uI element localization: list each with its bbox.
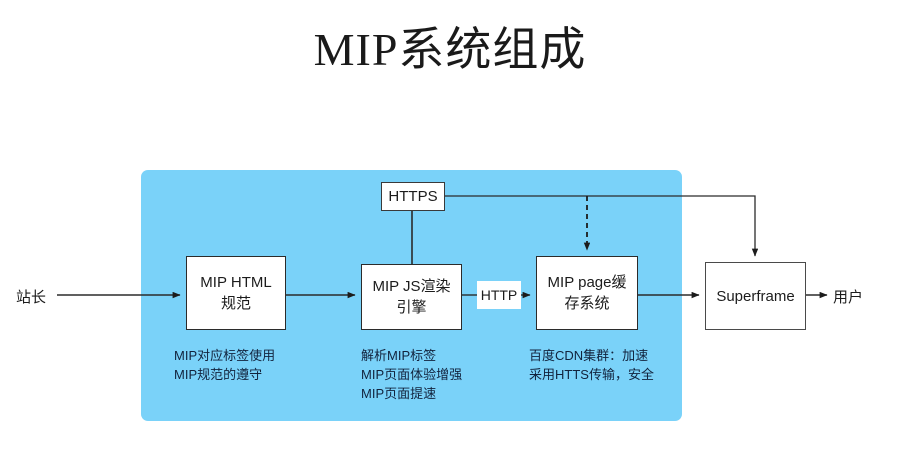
slide-canvas: MIP系统组成 站长 用户 HTTPS HT <box>0 0 900 462</box>
node-mip-page-cache-system[interactable]: MIP page缓存系统 <box>536 256 638 330</box>
caption-mip-page-cache-system: 百度CDN集群：加速 采用HTTS传输，安全 <box>529 346 654 384</box>
node-superframe[interactable]: Superframe <box>705 262 806 330</box>
protocol-label-http: HTTP <box>477 281 521 309</box>
node-mip-js-render-engine[interactable]: MIP JS渲染引擎 <box>361 264 462 330</box>
edge-https-to-superframe <box>445 196 755 256</box>
caption-mip-js-render-engine: 解析MIP标签 MIP页面体验增强 MIP页面提速 <box>361 346 462 403</box>
node-mip-html-spec[interactable]: MIP HTML 规范 <box>186 256 286 330</box>
actor-label-webmaster: 站长 <box>16 286 46 307</box>
protocol-box-https[interactable]: HTTPS <box>381 182 445 211</box>
actor-label-user: 用户 <box>833 286 863 307</box>
caption-mip-html-spec: MIP对应标签使用 MIP规范的遵守 <box>174 346 275 384</box>
